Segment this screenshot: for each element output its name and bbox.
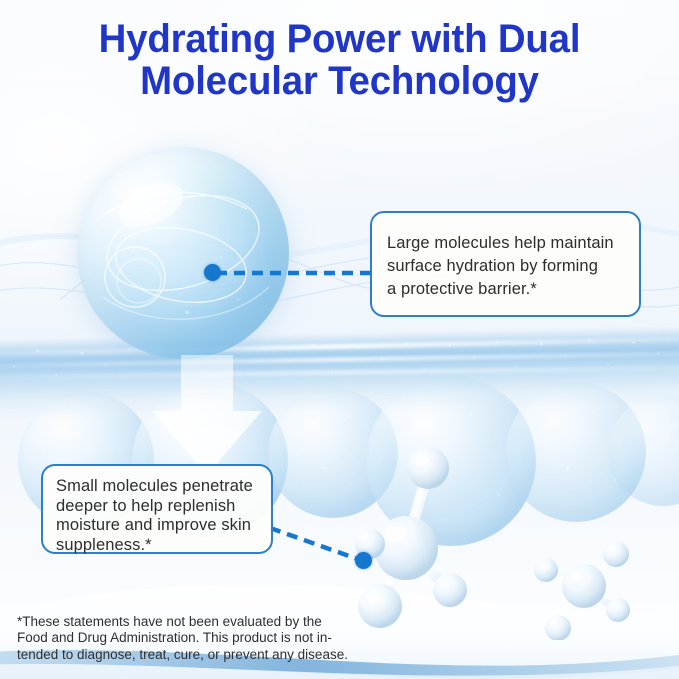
small-callout-line-4: suppleness.* [56,536,271,556]
large-molecule-sphere [77,147,289,359]
surface-stripe [0,365,679,380]
connector-dot-small [355,552,372,569]
large-callout-line-2: surface hydration by forming [387,255,639,278]
small-molecule-model-small [522,528,652,640]
title-line-2: Molecular Technology [14,60,666,102]
small-callout-line-1: Small molecules penetrate [56,477,271,497]
small-callout-line-2: deeper to help replenish [56,497,271,517]
disclaimer-line-1: *These statements have not been evaluate… [17,614,417,631]
sphere-inner-swirls [77,147,289,359]
large-callout-line-1: Large molecules help maintain [387,232,639,255]
page-title: Hydrating Power with Dual Molecular Tech… [14,18,666,102]
fda-disclaimer: *These statements have not been evaluate… [17,614,417,664]
small-molecule-callout[interactable]: Small molecules penetrate deeper to help… [41,464,273,554]
disclaimer-line-2: Food and Drug Administration. This produ… [17,630,417,647]
title-line-1: Hydrating Power with Dual [99,17,581,61]
downward-penetration-arrow [148,355,266,477]
large-callout-line-3: a protective barrier.* [387,278,639,301]
background-bubble [608,396,679,506]
connector-dot-large [204,264,221,281]
infographic-canvas: Hydrating Power with Dual Molecular Tech… [0,0,679,679]
large-molecule-callout[interactable]: Large molecules help maintain surface hy… [370,211,641,317]
small-callout-line-3: moisture and improve skin [56,516,271,536]
large-callout-text: Large molecules help maintain surface hy… [372,213,639,301]
disclaimer-line-3: tended to diagnose, treat, cure, or prev… [17,647,417,664]
small-callout-text: Small molecules penetrate deeper to help… [43,466,271,555]
